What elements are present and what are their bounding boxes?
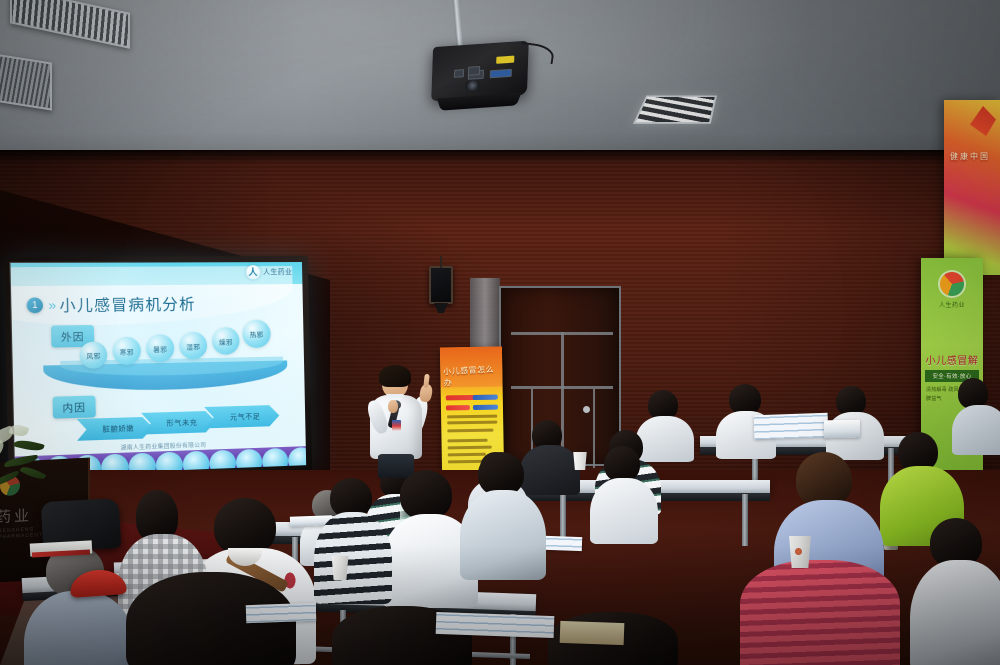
slide-bubble: 湿邪 <box>179 332 207 360</box>
presenter-mic-hand <box>388 400 398 413</box>
poster-title: 小儿感冒怎么办 <box>443 364 500 389</box>
slide-title-row: 1 » 小儿感冒病机分析 <box>26 293 196 317</box>
company-logo-text: 人生药业 <box>263 267 292 277</box>
wall-speaker-icon <box>429 266 453 304</box>
logo-glyph: 人 <box>248 268 257 277</box>
projector <box>431 41 529 102</box>
slide-title: 小儿感冒病机分析 <box>59 293 196 316</box>
chevron-right-icon: » <box>48 297 54 313</box>
list-item <box>314 478 394 598</box>
cup-logo-icon <box>795 548 802 555</box>
handouts-stack <box>754 413 829 440</box>
presenter <box>360 368 438 478</box>
banner-leaf-icon <box>970 106 996 136</box>
slide-step-number: 1 <box>27 297 44 313</box>
projector-lens-icon <box>465 80 479 91</box>
banner-warm-headline: 健康中国 <box>950 152 994 163</box>
slide-arrow-item: 形气未充 <box>141 411 216 435</box>
banner-logo-text: 人生药业 <box>921 300 983 309</box>
handouts-stack <box>246 603 317 623</box>
projector-vga-port <box>490 69 512 79</box>
slide-internal-label: 内因 <box>53 396 96 419</box>
handouts-stack <box>824 420 860 439</box>
slide-logo: 人 人生药业 <box>246 265 293 279</box>
projector-label <box>496 56 514 64</box>
door-handle-icon[interactable] <box>583 406 590 413</box>
list-item <box>590 446 660 538</box>
list-item <box>460 452 546 572</box>
slide-bubble: 燥邪 <box>212 327 240 355</box>
slide-arrow-item: 元气不足 <box>204 405 279 429</box>
presenter-hair <box>379 365 411 387</box>
presenter-badge <box>392 420 401 431</box>
company-logo-icon: 人 <box>246 265 260 279</box>
slide-arrow-item: 脏腑娇嫩 <box>77 417 154 441</box>
list-item <box>910 518 1000 665</box>
handouts-stack <box>436 612 555 638</box>
list-item <box>24 545 134 665</box>
banner-logo-icon <box>940 272 964 296</box>
conference-room-photo: 人 人生药业 1 » 小儿感冒病机分析 外因 风邪 寒邪 暑邪 湿邪 燥邪 热邪 <box>0 0 1000 665</box>
table-leg <box>742 494 748 546</box>
projector-port <box>468 66 480 76</box>
handouts-stack <box>560 621 625 645</box>
banner-warm: 健康中国 <box>944 100 1000 275</box>
list-item <box>740 560 900 665</box>
slide-bubble: 热邪 <box>242 320 271 349</box>
projector-port <box>454 69 464 78</box>
